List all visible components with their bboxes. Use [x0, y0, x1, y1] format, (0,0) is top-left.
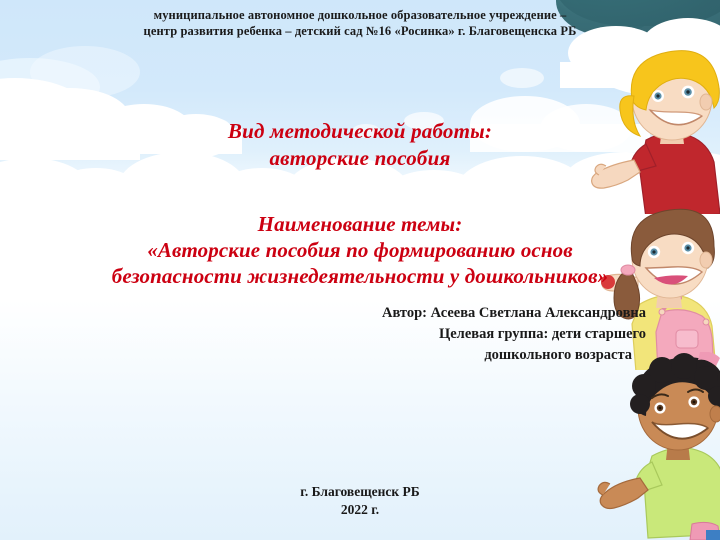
target-group-line: Целевая группа: дети старшего: [0, 324, 646, 345]
place-and-year-footer: г. Благовещенск РБ 2022 г.: [0, 483, 720, 519]
header-line-2: центр развития ребенка – детский сад №16…: [0, 23, 720, 39]
theme-line-1: Наименование темы:: [0, 211, 720, 237]
title-line-1: Вид методической работы:: [0, 118, 720, 145]
footer-year-line: 2022 г.: [0, 501, 720, 519]
institution-header: муниципальное автономное дошкольное обра…: [0, 7, 720, 39]
presentation-slide: муниципальное автономное дошкольное обра…: [0, 0, 720, 540]
theme-title: Наименование темы: «Авторские пособия по…: [0, 211, 720, 289]
target-group-line-cont: дошкольного возраста: [0, 345, 646, 366]
footer-city-line: г. Благовещенск РБ: [0, 483, 720, 501]
work-type-title: Вид методической работы: авторские пособ…: [0, 118, 720, 172]
author-info: Автор: Асеева Светлана Александровна Цел…: [0, 303, 646, 366]
author-name-line: Автор: Асеева Светлана Александровна: [0, 303, 646, 324]
theme-line-2: «Авторские пособия по формированию основ: [0, 237, 720, 263]
theme-line-3: безопасности жизнедеятельности у дошколь…: [0, 263, 720, 289]
title-line-2: авторские пособия: [0, 145, 720, 172]
header-line-1: муниципальное автономное дошкольное обра…: [0, 7, 720, 23]
